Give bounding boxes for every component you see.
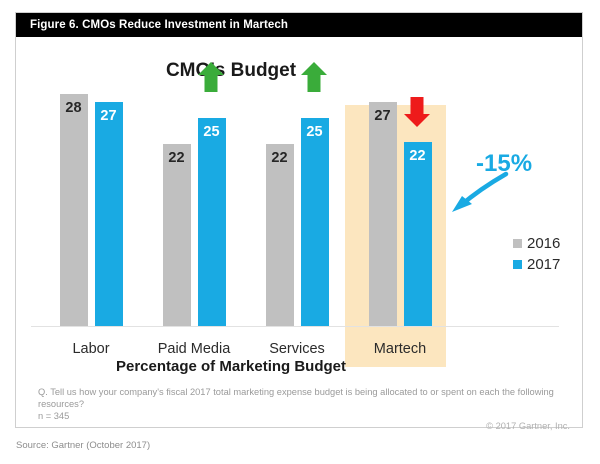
bar-value-label: 22 xyxy=(266,150,294,166)
bar-paid-media-2017[interactable]: 25 xyxy=(198,118,226,326)
bar-value-label: 22 xyxy=(404,148,432,164)
bar-value-label: 25 xyxy=(301,124,329,140)
bar-group-services: 22 25 Services xyxy=(242,37,352,367)
source-line: Source: Gartner (October 2017) xyxy=(16,440,150,451)
bars-row: 28 27 xyxy=(36,77,146,326)
legend-label: 2016 xyxy=(527,235,560,252)
bar-value-label: 27 xyxy=(95,108,123,124)
figure-card: Figure 6. CMOs Reduce Investment in Mart… xyxy=(15,12,583,428)
copyright-notice: © 2017 Gartner, Inc. xyxy=(486,421,570,431)
bar-value-label: 22 xyxy=(163,150,191,166)
bar-value-label: 28 xyxy=(60,100,88,116)
figure-header-bar: Figure 6. CMOs Reduce Investment in Mart… xyxy=(16,13,582,37)
bar-group-labor: 28 27 Labor xyxy=(36,37,146,367)
bar-martech-2016[interactable]: 27 xyxy=(369,102,397,326)
bars-row: 27 22 xyxy=(345,77,455,326)
bar-services-2016[interactable]: 22 xyxy=(266,144,294,326)
bar-services-2017[interactable]: 25 xyxy=(301,118,329,326)
chart-plot-area: 28 27 Labor 22 xyxy=(16,37,582,377)
bar-group-paid-media: 22 25 Paid Media xyxy=(139,37,249,367)
bar-martech-2017[interactable]: 22 xyxy=(404,142,432,326)
category-label-services: Services xyxy=(242,341,352,357)
category-label-labor: Labor xyxy=(36,341,146,357)
bar-labor-2017[interactable]: 27 xyxy=(95,102,123,326)
footnote-question: Q. Tell us how your company's fiscal 201… xyxy=(38,386,558,410)
bar-labor-2016[interactable]: 28 xyxy=(60,94,88,326)
chart-legend: 2016 2017 xyxy=(513,233,560,275)
footnote: Q. Tell us how your company's fiscal 201… xyxy=(38,386,558,422)
axis-title: Percentage of Marketing Budget xyxy=(16,358,446,375)
bar-value-label: 25 xyxy=(198,124,226,140)
figure-header-title: Figure 6. CMOs Reduce Investment in Mart… xyxy=(16,19,288,31)
bar-paid-media-2016[interactable]: 22 xyxy=(163,144,191,326)
bar-group-martech: 27 22 Martech xyxy=(345,37,455,367)
bars-row: 22 25 xyxy=(139,77,249,326)
legend-label: 2017 xyxy=(527,256,560,273)
legend-item-2017[interactable]: 2017 xyxy=(513,254,560,275)
footnote-sample-size: n = 345 xyxy=(38,410,558,422)
legend-swatch-icon xyxy=(513,260,522,269)
legend-item-2016[interactable]: 2016 xyxy=(513,233,560,254)
callout-percent-label: -15% xyxy=(476,150,532,178)
bars-row: 22 25 xyxy=(242,77,352,326)
bar-value-label: 27 xyxy=(369,108,397,124)
category-label-paid-media: Paid Media xyxy=(139,341,249,357)
category-label-martech: Martech xyxy=(345,341,455,357)
legend-swatch-icon xyxy=(513,239,522,248)
